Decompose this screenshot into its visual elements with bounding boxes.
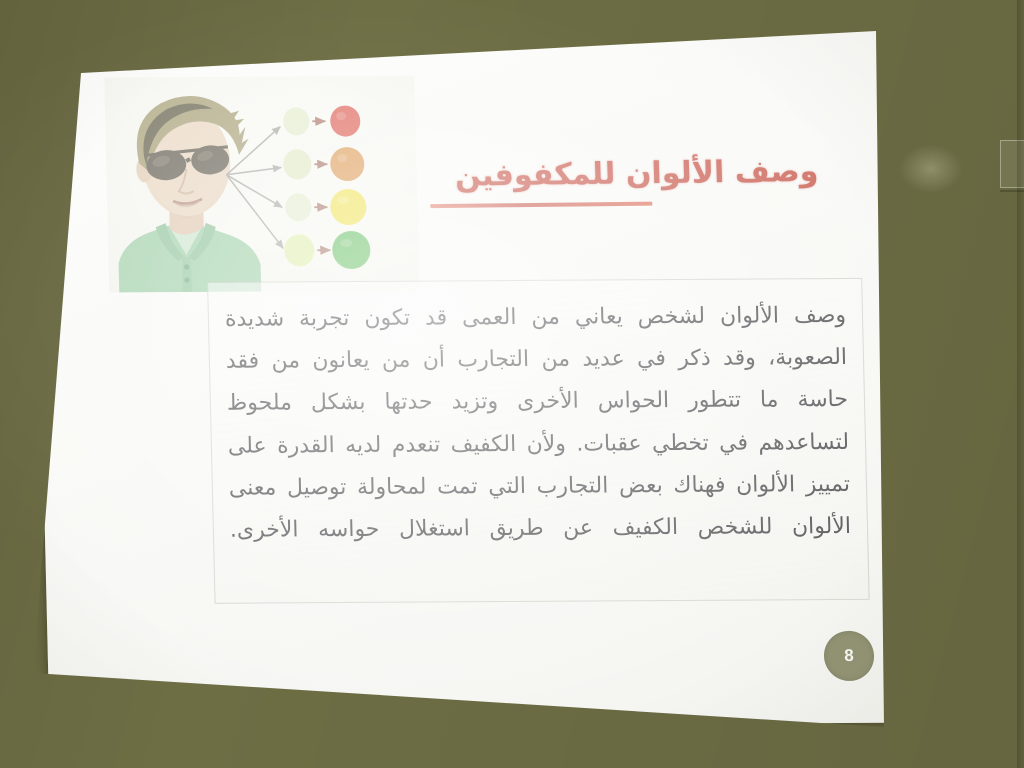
wall-right-edge-shadow — [1017, 0, 1024, 768]
slide-title-underline — [430, 202, 652, 209]
projected-slide-region: وصف الألوان للمكفوفين وصف الألوان لشخص ي… — [0, 0, 1024, 768]
slide-body-textbox: وصف الألوان لشخص يعاني من العمى قد تكون … — [207, 278, 870, 604]
page-number-badge: 8 — [823, 631, 874, 681]
presentation-slide: وصف الألوان للمكفوفين وصف الألوان لشخص ي… — [33, 23, 902, 728]
wall-smudge — [900, 145, 962, 193]
photo-scene: وصف الألوان للمكفوفين وصف الألوان لشخص ي… — [0, 0, 1024, 768]
slide-body-text: وصف الألوان لشخص يعاني من العمى قد تكون … — [224, 295, 851, 552]
slide-title: وصف الألوان للمكفوفين — [396, 153, 877, 194]
perception-arrows-and-dots — [104, 76, 419, 293]
illustration-color-perception — [104, 76, 419, 293]
